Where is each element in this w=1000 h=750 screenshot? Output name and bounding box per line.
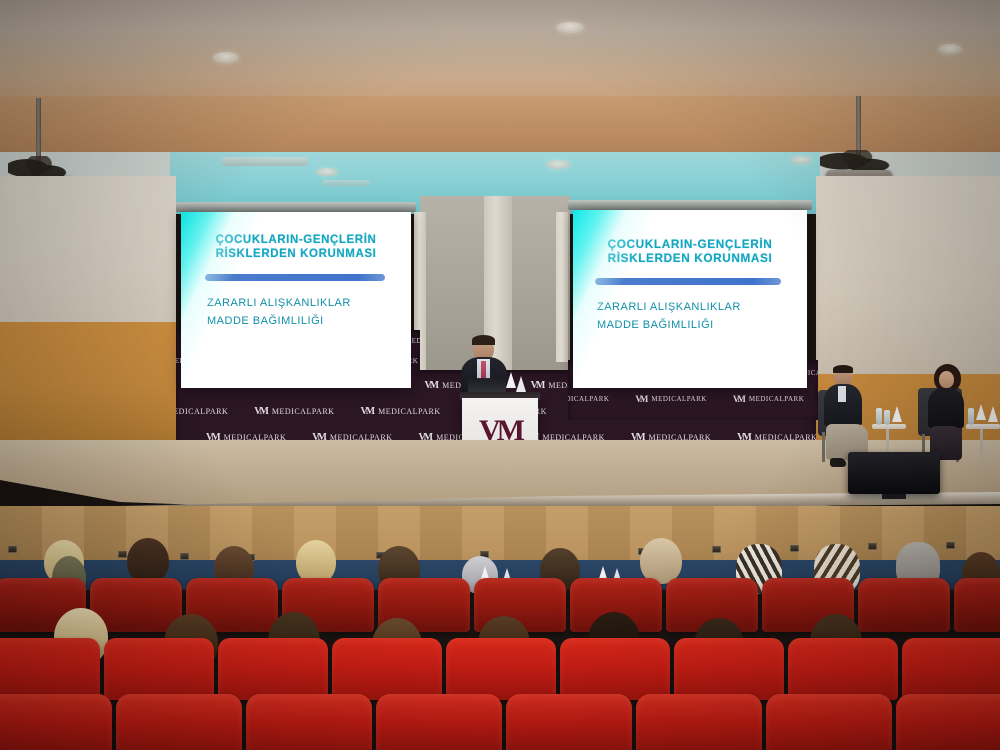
slide-body-line-1: ZARARLI ALIŞKANLIKLAR <box>597 298 741 316</box>
seat <box>218 638 328 700</box>
banner-logo: VMMEDICALPARK <box>176 406 228 417</box>
seat <box>104 638 214 700</box>
panelist-male-shirt <box>838 386 846 402</box>
slide-body-right: ZARARLI ALIŞKANLIKLAR MADDE BAĞIMLILIĞI <box>597 298 741 334</box>
slide-title-line-2: RİSKLERDEN KORUNMASI <box>573 252 807 266</box>
water-bottle <box>968 408 974 425</box>
seat <box>560 638 670 700</box>
ceiling-downlight <box>938 44 962 54</box>
banner-logo-name: MEDICALPARK <box>568 395 609 403</box>
screen-housing-left <box>176 202 416 212</box>
banner-logo-mark: VM <box>635 394 646 404</box>
wall-fixture <box>946 542 955 549</box>
wall-fixture <box>790 545 799 552</box>
banner-logo-name: MEDICALPARK <box>651 395 706 403</box>
slide-title-line-1: ÇOCUKLARIN-GENÇLERİN <box>181 234 411 248</box>
ceiling-downlight <box>790 156 812 164</box>
seat <box>246 694 372 750</box>
seat <box>636 694 762 750</box>
seat <box>788 638 898 700</box>
screen-housing-right <box>568 200 812 210</box>
wall-upper-left <box>0 176 176 326</box>
seat <box>0 638 100 700</box>
slide-title-left: ÇOCUKLARIN-GENÇLERİN RİSKLERDEN KORUNMAS… <box>181 234 411 261</box>
ceiling-vent <box>222 157 308 166</box>
table-flag <box>988 406 998 422</box>
slide-body-left: ZARARLI ALIŞKANLIKLAR MADDE BAĞIMLILIĞI <box>207 294 351 330</box>
water-bottle <box>884 410 890 425</box>
banner-logo-mark: VM <box>360 406 373 417</box>
speaker-hair <box>472 335 495 345</box>
wall-fixture <box>868 543 877 550</box>
slide-divider-right <box>595 278 781 285</box>
slide-divider-left <box>205 274 385 281</box>
panelist-male-shoe <box>830 458 846 467</box>
banner-logo: VMMEDICALPARK <box>733 394 804 404</box>
ceiling-downlight <box>316 168 338 176</box>
banner-logo-name: MEDICALPARK <box>749 395 804 403</box>
banner-row: VMMEDICALPARKVMMEDICALPARKVMMEDICALPARKV… <box>568 394 818 404</box>
slide-title-right: ÇOCUKLARIN-GENÇLERİN RİSKLERDEN KORUNMAS… <box>573 238 807 266</box>
stage-monitor-tv <box>848 452 940 494</box>
flag-icon <box>976 404 986 420</box>
podium-flag <box>516 376 526 392</box>
wall-fixture <box>180 553 189 560</box>
table-flag <box>976 404 986 420</box>
ceiling-downlight <box>556 22 584 33</box>
slide-body-line-1: ZARARLI ALIŞKANLIKLAR <box>207 294 351 312</box>
podium-flag <box>506 372 516 388</box>
flag-icon <box>892 406 902 422</box>
seat <box>446 638 556 700</box>
water-bottle <box>876 408 882 425</box>
banner-logo-mark: VM <box>254 406 267 417</box>
seat <box>766 694 892 750</box>
flag-icon <box>516 376 526 392</box>
conference-hall-photo: VMMEDICALPARKVMMEDICALPARKVMMEDICALPARKV… <box>0 0 1000 750</box>
ceiling-downlight <box>546 160 570 169</box>
slide-left: ÇOCUKLARIN-GENÇLERİN RİSKLERDEN KORUNMAS… <box>181 212 411 388</box>
table-leg <box>980 429 983 459</box>
seat <box>674 638 784 700</box>
banner-logo-mark: VM <box>733 394 744 404</box>
seat <box>506 694 632 750</box>
seat <box>0 694 112 750</box>
ceiling-downlight <box>213 52 239 63</box>
pillar-right <box>556 212 568 362</box>
banner-logo-name: MEDICALPARK <box>378 407 441 416</box>
table-flag <box>892 406 902 422</box>
wall-lower-left-acoustic <box>0 322 176 452</box>
seat <box>954 578 1000 632</box>
wall-upper-right <box>816 176 1000 376</box>
panelist-female-torso <box>928 388 964 428</box>
banner-logo: VMMEDICALPARK <box>568 394 609 404</box>
seat <box>376 694 502 750</box>
flag-icon <box>506 372 516 388</box>
seat <box>116 694 242 750</box>
seat <box>332 638 442 700</box>
slide-body-line-2: MADDE BAĞIMLILIĞI <box>597 316 741 334</box>
slide-title-line-2: RİSKLERDEN KORUNMASI <box>181 248 411 262</box>
slide-title-line-1: ÇOCUKLARIN-GENÇLERİN <box>573 238 807 252</box>
slide-body-line-2: MADDE BAĞIMLILIĞI <box>207 312 351 330</box>
projection-screen-left: ÇOCUKLARIN-GENÇLERİN RİSKLERDEN KORUNMAS… <box>181 212 411 388</box>
seat <box>858 578 950 632</box>
slide-right: ÇOCUKLARIN-GENÇLERİN RİSKLERDEN KORUNMAS… <box>573 210 807 388</box>
wall-fixture <box>712 546 721 553</box>
ceiling-vent <box>322 180 370 186</box>
wall-fixture <box>8 546 17 553</box>
tv-stand <box>882 494 906 499</box>
wall-fixture <box>118 551 127 558</box>
banner-logo: VMMEDICALPARK <box>360 406 440 417</box>
banner-logo-name: MEDICALPARK <box>176 407 228 416</box>
panelist-female-face <box>939 371 954 388</box>
seat <box>896 694 1000 750</box>
seat <box>902 638 1000 700</box>
banner-logo-name: MEDICALPARK <box>272 407 335 416</box>
banner-logo: VMMEDICALPARK <box>635 394 706 404</box>
banner-logo: VMMEDICALPARK <box>254 406 334 417</box>
panelist-male-hair <box>833 365 853 373</box>
flag-icon <box>988 406 998 422</box>
projection-screen-right: ÇOCUKLARIN-GENÇLERİN RİSKLERDEN KORUNMAS… <box>573 210 807 388</box>
banner-logo-mark: VM <box>531 380 544 391</box>
projector-mount-pole-right <box>856 96 861 158</box>
banner-logo-mark: VM <box>424 380 437 391</box>
